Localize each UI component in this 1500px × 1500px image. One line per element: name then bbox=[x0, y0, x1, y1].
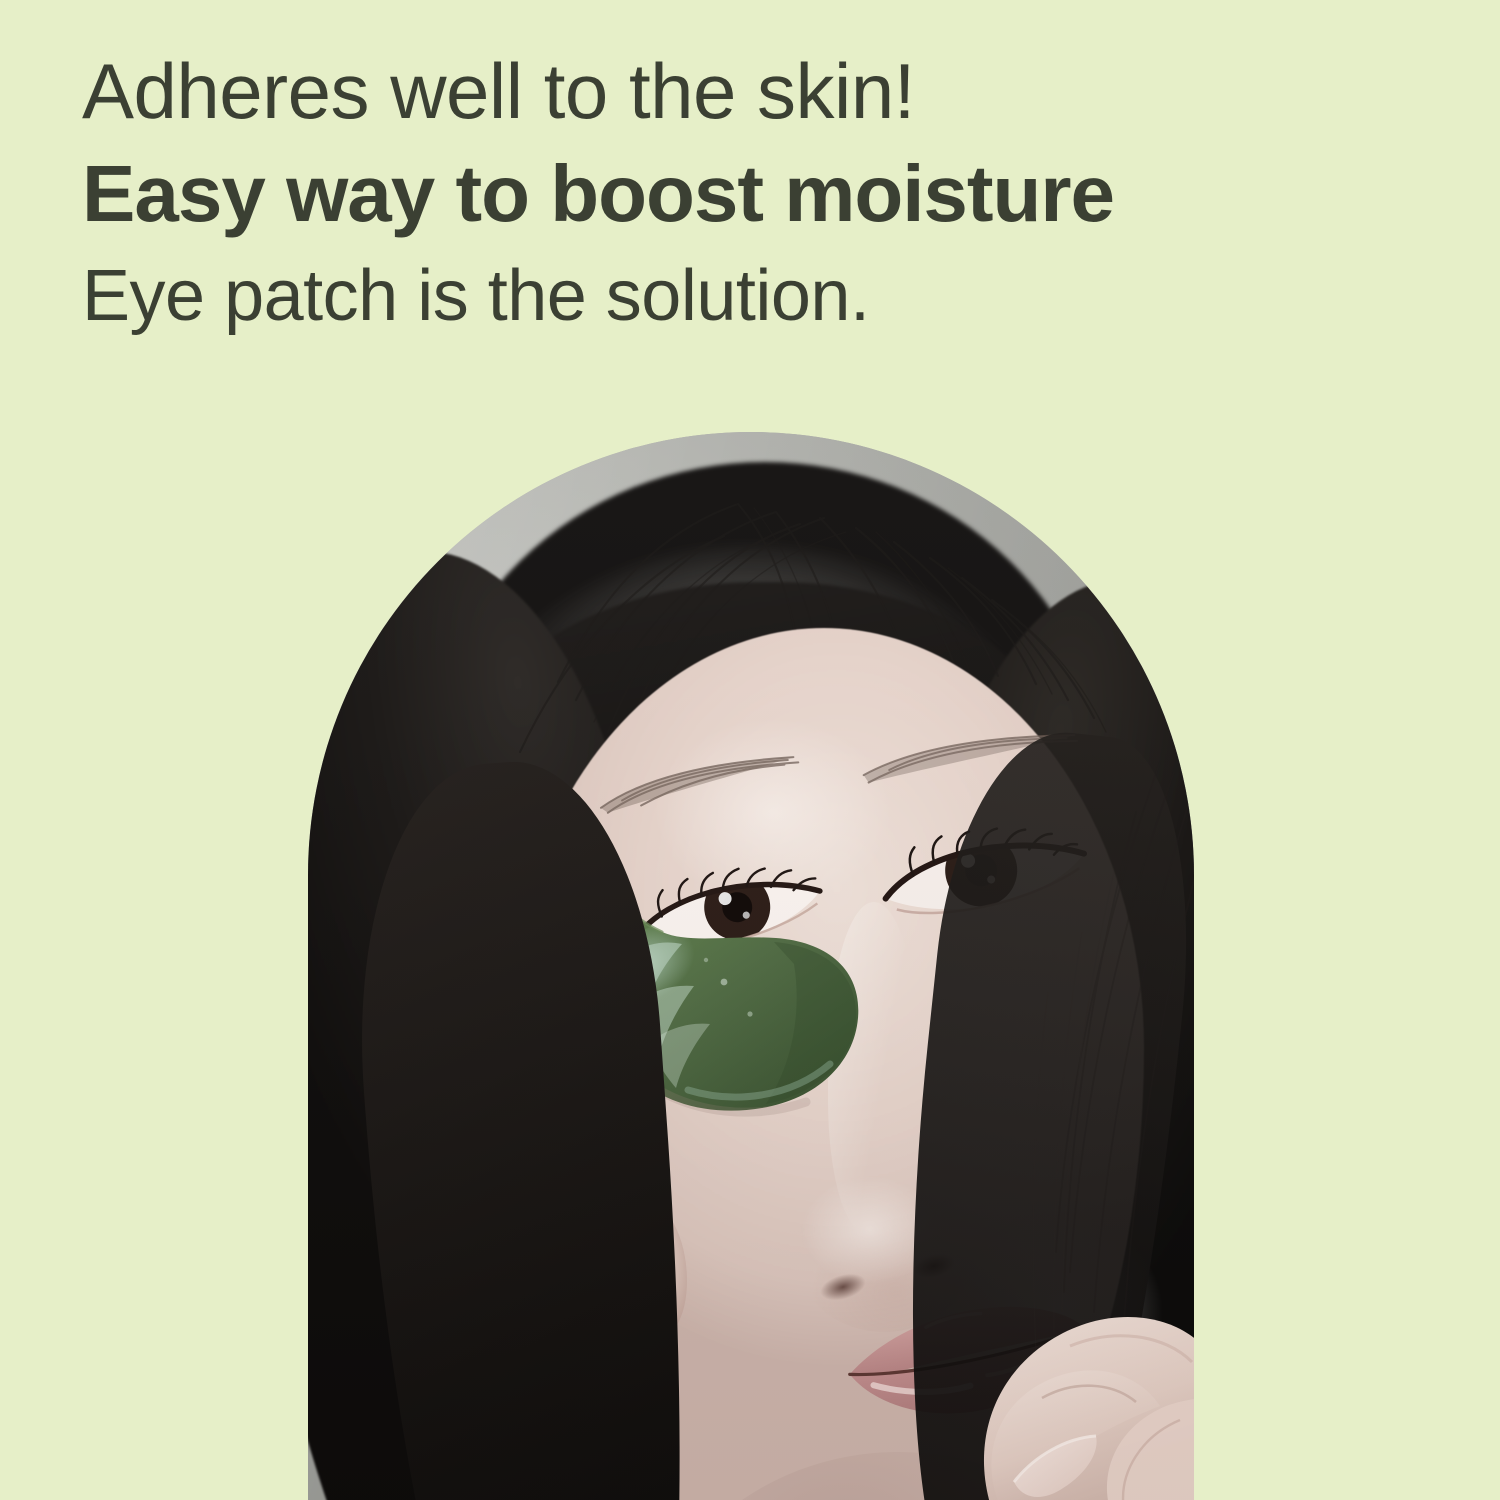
hand-fingers bbox=[874, 1210, 1194, 1500]
headline-line-2: Easy way to boost moisture bbox=[82, 154, 1422, 234]
headline-line-1: Adheres well to the skin! bbox=[82, 52, 1422, 130]
product-banner: Adheres well to the skin! Easy way to bo… bbox=[0, 0, 1500, 1500]
headline-block: Adheres well to the skin! Easy way to bo… bbox=[82, 52, 1422, 332]
product-photo bbox=[308, 432, 1194, 1500]
headline-line-3: Eye patch is the solution. bbox=[82, 260, 1422, 332]
